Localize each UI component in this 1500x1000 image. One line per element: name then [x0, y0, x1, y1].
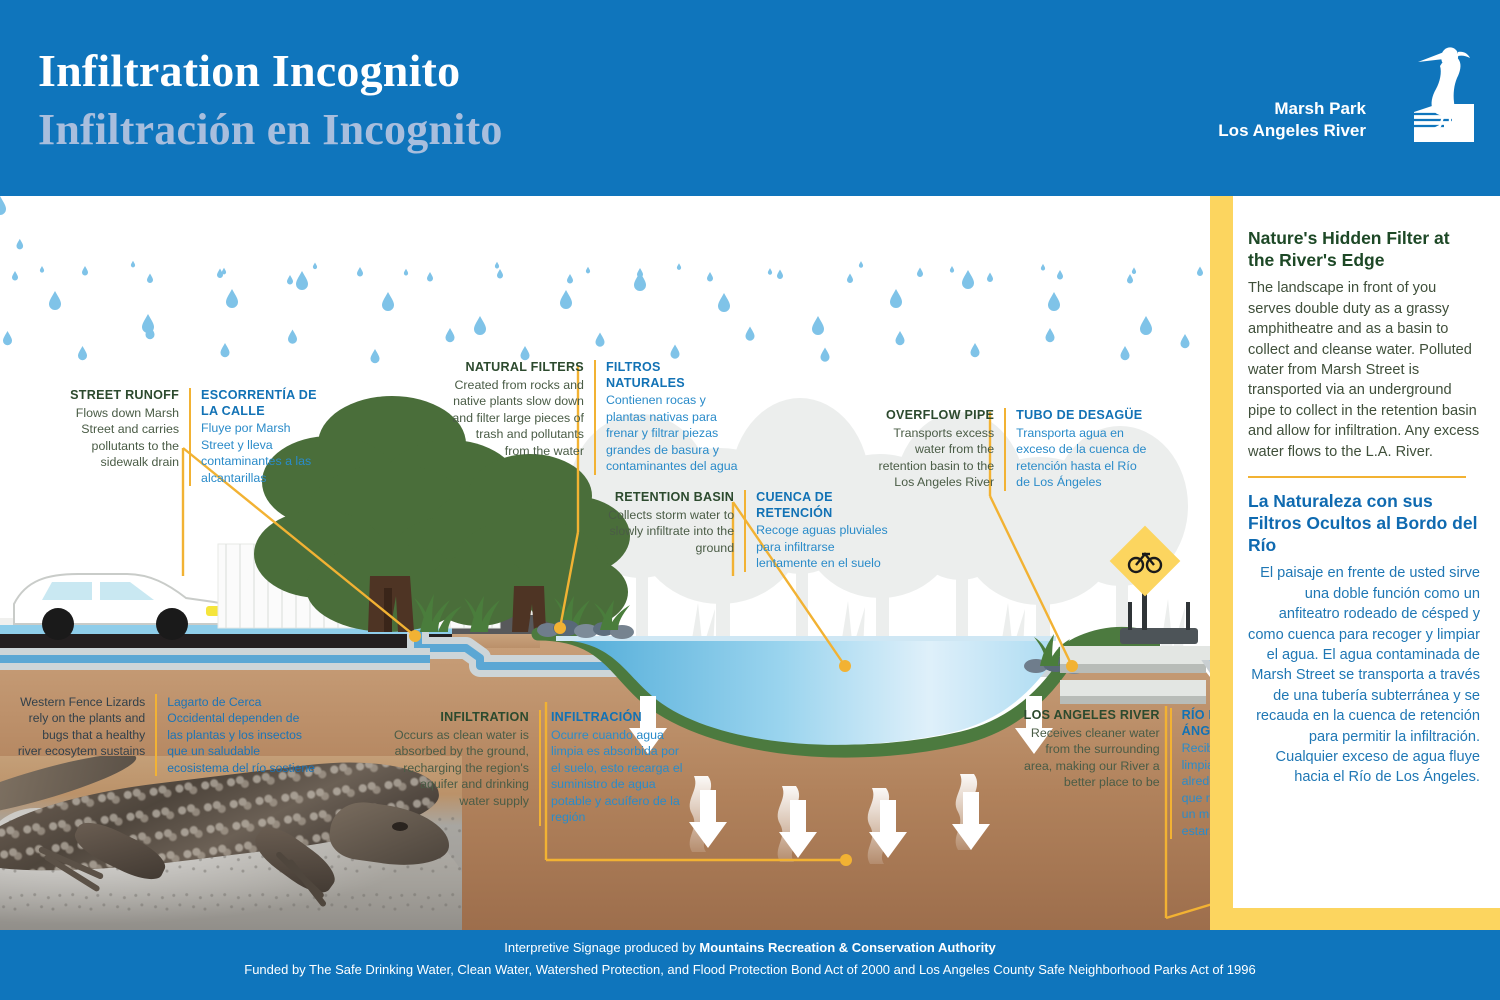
footer-line1-prefix: Interpretive Signage produced by [504, 940, 699, 955]
callout-heading-en: RETENTION BASIN [606, 490, 734, 506]
bike-path [1060, 646, 1206, 664]
callout-heading-es: FILTROS NATURALES [606, 360, 740, 391]
sidebar-content: Nature's Hidden Filter at the River's Ed… [1248, 228, 1480, 788]
sidebar-heading-english: Nature's Hidden Filter at the River's Ed… [1248, 228, 1480, 271]
callout-spanish: CUENCA DE RETENCIÓN Recoge aguas pluvial… [746, 490, 888, 572]
callout-english: RETENTION BASIN Collects storm water to … [606, 490, 744, 556]
bench [1120, 628, 1198, 644]
callout-spanish: FILTROS NATURALES Contienen rocas y plan… [596, 360, 740, 475]
callout-natural-filters: NATURAL FILTERS Created from rocks and n… [448, 360, 740, 475]
callout-english: LOS ANGELES RIVER Receives cleaner water… [1016, 708, 1170, 791]
callout-body-en: Flows down Marsh Street and carries poll… [64, 405, 179, 471]
callout-english: INFILTRATION Occurs as clean water is ab… [390, 710, 539, 809]
callout-heading-es: TUBO DE DESAGÜE [1016, 408, 1150, 424]
brand-line-1: Marsh Park [1218, 98, 1366, 120]
lizard-caption: Western Fence Lizards rely on the plants… [16, 694, 316, 776]
callout-heading-en: INFILTRATION [390, 710, 529, 726]
callout-english: OVERFLOW PIPE Transports excess water fr… [868, 408, 1004, 491]
callout-heading-es: CUENCA DE RETENCIÓN [756, 490, 888, 521]
footer-line-1: Interpretive Signage produced by Mountai… [0, 940, 1500, 955]
callout-heading-es: INFILTRACIÓN [551, 710, 684, 726]
footer-agency-name: Mountains Recreation & Conservation Auth… [699, 940, 995, 955]
callout-heading-en: NATURAL FILTERS [448, 360, 584, 376]
callout-heading-en: STREET RUNOFF [64, 388, 179, 404]
page-title-english: Infiltration Incognito [38, 44, 460, 97]
brand-label: Marsh Park Los Angeles River [1218, 98, 1366, 143]
lizard-caption-en: Western Fence Lizards rely on the plants… [16, 694, 145, 760]
callout-body-en: Occurs as clean water is absorbed by the… [390, 727, 529, 810]
callout-body-es: Ocurre cuando agua limpia es absorbida p… [551, 727, 684, 826]
lizard-caption-spanish: Lagarto de Cerca Occidental dependen de … [157, 694, 316, 776]
callout-infiltration: INFILTRATION Occurs as clean water is ab… [390, 710, 684, 826]
heron-logo-icon [1374, 42, 1478, 148]
footer-bar: Interpretive Signage produced by Mountai… [0, 930, 1500, 1000]
callout-street-runoff: STREET RUNOFF Flows down Marsh Street an… [64, 388, 318, 486]
callout-english: STREET RUNOFF Flows down Marsh Street an… [64, 388, 189, 471]
callout-retention-basin: RETENTION BASIN Collects storm water to … [606, 490, 888, 572]
callout-body-en: Receives cleaner water from the surround… [1016, 725, 1160, 791]
callout-spanish: INFILTRACIÓN Ocurre cuando agua limpia e… [541, 710, 684, 826]
signage-panel: Infiltration Incognito Infiltración en I… [0, 0, 1500, 1000]
page-title-spanish: Infiltración en Incognito [38, 104, 503, 155]
sidebar-divider [1248, 476, 1466, 478]
callout-body-en: Transports excess water from the retenti… [868, 425, 994, 491]
sidebar-body-spanish: El paisaje en frente de usted sirve una … [1248, 563, 1480, 788]
callout-body-es: Transporta agua en exceso de la cuenca d… [1016, 425, 1150, 491]
callout-overflow-pipe: OVERFLOW PIPE Transports excess water fr… [868, 408, 1150, 491]
callout-body-en: Created from rocks and native plants slo… [448, 377, 584, 460]
brand-line-2: Los Angeles River [1218, 120, 1366, 142]
callout-heading-en: OVERFLOW PIPE [868, 408, 994, 424]
header-bar: Infiltration Incognito Infiltración en I… [0, 0, 1500, 196]
sidebar-body-english: The landscape in front of you serves dou… [1248, 278, 1480, 462]
sidebar-heading-spanish: La Naturaleza con sus Filtros Ocultos al… [1248, 491, 1480, 556]
callout-body-es: Recoge aguas pluviales para infiltrarse … [756, 522, 888, 572]
callout-body-en: Collects storm water to slowly infiltrat… [606, 507, 734, 557]
callout-body-es: Fluye por Marsh Street y lleva contamina… [201, 420, 318, 486]
footer-line-2: Funded by The Safe Drinking Water, Clean… [0, 962, 1500, 977]
callout-spanish: ESCORRENTÍA DE LA CALLE Fluye por Marsh … [191, 388, 318, 486]
lizard-caption-english: Western Fence Lizards rely on the plants… [16, 694, 155, 760]
callout-heading-es: ESCORRENTÍA DE LA CALLE [201, 388, 318, 419]
callout-english: NATURAL FILTERS Created from rocks and n… [448, 360, 594, 459]
callout-body-es: Contienen rocas y plantas nativas para f… [606, 392, 740, 475]
lizard-caption-es: Lagarto de Cerca Occidental dependen de … [167, 694, 316, 776]
callout-heading-en: LOS ANGELES RIVER [1016, 708, 1160, 724]
callout-spanish: TUBO DE DESAGÜE Transporta agua en exces… [1006, 408, 1150, 491]
